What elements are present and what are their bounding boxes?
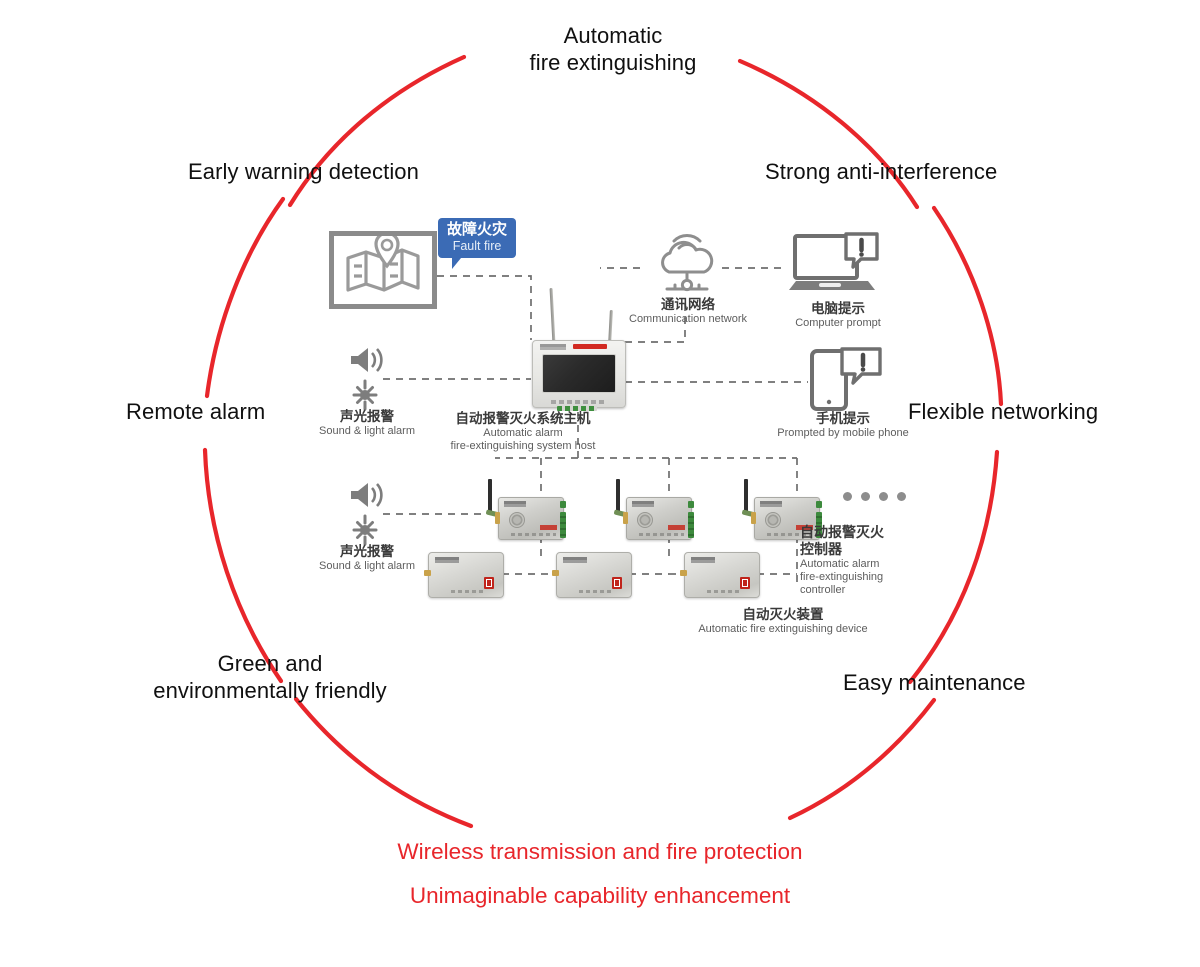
fault-fire-bubble-en: Fault fire <box>447 239 507 254</box>
mobile-alert-icon <box>806 347 884 413</box>
controller-logo-2 <box>632 501 654 507</box>
caption-cn: 通讯网络 <box>613 297 763 313</box>
caption-en: Communication network <box>613 313 763 326</box>
caption-cn: 声光报警 <box>302 544 432 560</box>
controller-logo-1 <box>504 501 526 507</box>
extinguisher-text-strip-1 <box>451 590 485 593</box>
extinguisher-red-badge-2 <box>612 577 622 589</box>
extinguisher-nozzle-1 <box>424 570 431 576</box>
caption-en: Sound & light alarm <box>302 560 432 573</box>
dot-2 <box>861 492 870 501</box>
controller-sounder-2 <box>637 512 653 528</box>
fault-fire-bubble: 故障火灾 Fault fire <box>438 218 516 258</box>
caption-en: Automatic alarm fire-extinguishing syste… <box>413 427 633 453</box>
caption-en: Automatic alarm fire-extinguishing contr… <box>800 558 920 597</box>
controller-text-strip-1 <box>511 533 556 536</box>
caption-en: Automatic fire extinguishing device <box>658 623 908 636</box>
controller-terminal-left-1 <box>495 512 500 524</box>
extinguisher-body-2 <box>556 552 632 598</box>
caption-system-host: 自动报警灭火系统主机 Automatic alarm fire-extingui… <box>413 411 633 453</box>
dot-3 <box>879 492 888 501</box>
fault-fire-bubble-cn: 故障火灾 <box>447 221 507 239</box>
dot-4 <box>897 492 906 501</box>
caption-sound-light-alarm-bottom: 声光报警 Sound & light alarm <box>302 544 432 573</box>
caption-cn: 电脑提示 <box>773 301 903 317</box>
controller-body-1 <box>498 497 564 540</box>
speaker-strobe-glyph-2 <box>349 482 383 546</box>
speaker-strobe-icon-2 <box>349 482 383 546</box>
dot-1 <box>843 492 852 501</box>
caption-mobile-prompt: 手机提示 Prompted by mobile phone <box>748 411 938 440</box>
caption-cn: 自动报警灭火系统主机 <box>413 411 633 427</box>
host-brand <box>540 344 566 350</box>
extinguisher-red-badge-3 <box>740 577 750 589</box>
host-body <box>532 340 626 408</box>
extinguisher-text-strip-3 <box>707 590 741 593</box>
caption-cn: 自动报警灭火 控制器 <box>800 524 920 558</box>
system-topology-diagram: 故障火灾 Fault fire 通讯网络 Communication netwo… <box>0 0 1200 967</box>
controller-antenna-1 <box>488 479 492 513</box>
controller-terminal-top-1 <box>560 501 566 508</box>
infographic-canvas: Automatic fire extinguishing Early warni… <box>0 0 1200 967</box>
laptop-alert-icon <box>789 231 881 295</box>
host-screen <box>542 354 616 393</box>
controller-text-strip-2 <box>639 533 684 536</box>
caption-en: Prompted by mobile phone <box>748 427 938 440</box>
ellipsis-dots <box>843 492 906 501</box>
speaker-strobe-glyph <box>349 347 383 411</box>
controller-terminal-left-2 <box>623 512 628 524</box>
caption-en: Computer prompt <box>773 317 903 330</box>
map-screen-icon <box>329 231 437 309</box>
caption-extinguishing-device: 自动灭火装置 Automatic fire extinguishing devi… <box>658 607 908 636</box>
extinguisher-logo-2 <box>563 557 587 563</box>
caption-controller: 自动报警灭火 控制器 Automatic alarm fire-extingui… <box>800 524 920 597</box>
controller-terminal-top-2 <box>688 501 694 508</box>
controller-sounder-1 <box>509 512 525 528</box>
controller-red-mark-2 <box>668 525 685 530</box>
cloud-wifi-glyph <box>651 228 723 294</box>
extinguisher-body-1 <box>428 552 504 598</box>
extinguisher-logo-3 <box>691 557 715 563</box>
controller-red-mark-1 <box>540 525 557 530</box>
host-antenna-right <box>608 310 613 344</box>
speaker-strobe-icon <box>349 347 383 411</box>
host-bottom-label <box>551 400 607 404</box>
host-antenna-left <box>550 288 556 344</box>
caption-cn: 手机提示 <box>748 411 938 427</box>
extinguisher-nozzle-3 <box>680 570 687 576</box>
wire-map-to-host <box>437 276 531 340</box>
extinguisher-text-strip-2 <box>579 590 613 593</box>
caption-communication-network: 通讯网络 Communication network <box>613 297 763 326</box>
extinguisher-logo-1 <box>435 557 459 563</box>
caption-cn: 自动灭火装置 <box>658 607 908 623</box>
controller-antenna-3 <box>744 479 748 513</box>
controller-terminal-block-2 <box>688 512 694 538</box>
controller-sounder-3 <box>765 512 781 528</box>
extinguisher-red-badge-1 <box>484 577 494 589</box>
controller-terminal-top-3 <box>816 501 822 508</box>
host-red-stripe <box>573 344 607 349</box>
controller-terminal-left-3 <box>751 512 756 524</box>
caption-computer-prompt: 电脑提示 Computer prompt <box>773 301 903 330</box>
laptop-alert-glyph <box>789 231 881 295</box>
controller-terminal-block-1 <box>560 512 566 538</box>
extinguisher-body-3 <box>684 552 760 598</box>
controller-antenna-2 <box>616 479 620 513</box>
controller-body-2 <box>626 497 692 540</box>
mobile-alert-glyph <box>806 347 884 413</box>
extinguisher-nozzle-2 <box>552 570 559 576</box>
cloud-wifi-icon <box>651 228 723 294</box>
connection-wires <box>0 0 1200 967</box>
controller-logo-3 <box>760 501 782 507</box>
alarm-host-icon <box>531 288 625 412</box>
map-pin-glyph <box>334 236 432 304</box>
